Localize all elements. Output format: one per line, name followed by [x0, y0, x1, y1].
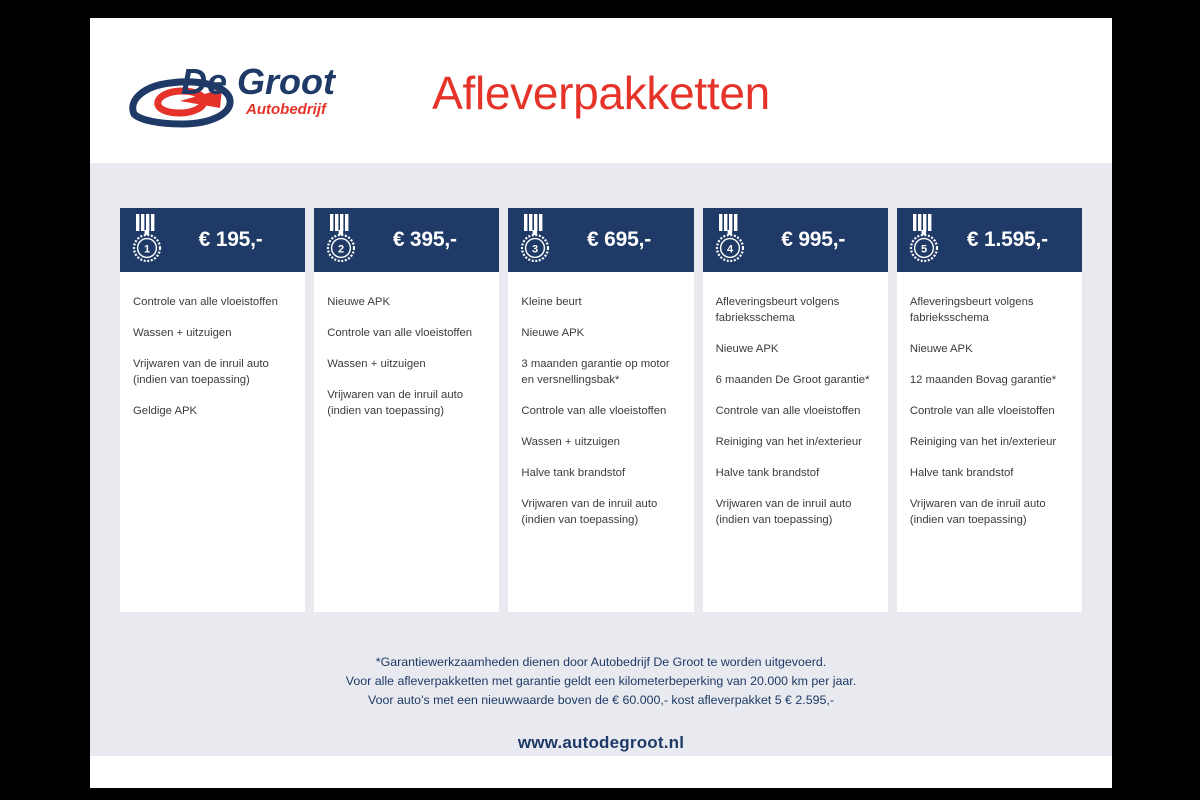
package-feature-item: Vrijwaren van de inruil auto (indien van…	[327, 387, 486, 419]
package-feature-item: Controle van alle vloeistoffen	[910, 403, 1069, 419]
package-feature-item: Controle van alle vloeistoffen	[521, 403, 680, 419]
svg-text:5: 5	[921, 243, 927, 255]
package-feature-item: Afleveringsbeurt volgens fabrieksschema	[910, 294, 1069, 326]
disclaimer-text: *Garantiewerkzaamheden dienen door Autob…	[90, 653, 1112, 711]
package-feature-item: Wassen + uitzuigen	[133, 325, 292, 341]
package-feature-list: Afleveringsbeurt volgens fabrieksschemaN…	[703, 272, 888, 544]
package-feature-item: Kleine beurt	[521, 294, 680, 310]
packages-section: 1 € 195,-Controle van alle vloeistoffenW…	[90, 163, 1112, 756]
package-price: € 1.595,-	[945, 228, 1074, 252]
package-feature-item: Vrijwaren van de inruil auto (indien van…	[716, 496, 875, 528]
medal-icon: 3	[518, 214, 552, 266]
svg-text:1: 1	[144, 243, 150, 255]
package-feature-item: Halve tank brandstof	[716, 465, 875, 481]
package-feature-item: 12 maanden Bovag garantie*	[910, 372, 1069, 388]
package-card[interactable]: 2 € 395,-Nieuwe APKControle van alle vlo…	[314, 208, 499, 612]
package-feature-item: Halve tank brandstof	[910, 465, 1069, 481]
package-feature-item: Nieuwe APK	[327, 294, 486, 310]
package-feature-item: Vrijwaren van de inruil auto (indien van…	[133, 356, 292, 388]
package-feature-item: Vrijwaren van de inruil auto (indien van…	[521, 496, 680, 528]
medal-icon: 5	[907, 214, 941, 266]
package-card-header: 2 € 395,-	[314, 208, 499, 272]
package-feature-item: Geldige APK	[133, 403, 292, 419]
disclaimer-line: Voor auto's met een nieuwwaarde boven de…	[90, 691, 1112, 710]
website-link[interactable]: www.autodegroot.nl	[90, 733, 1112, 753]
package-feature-list: Kleine beurtNieuwe APK3 maanden garantie…	[508, 272, 693, 544]
medal-icon: 2	[324, 214, 358, 266]
package-feature-list: Nieuwe APKControle van alle vloeistoffen…	[314, 272, 499, 435]
package-price: € 195,-	[168, 228, 297, 252]
package-feature-item: Controle van alle vloeistoffen	[716, 403, 875, 419]
svg-text:3: 3	[532, 243, 538, 255]
package-feature-item: Nieuwe APK	[716, 341, 875, 357]
package-feature-item: Nieuwe APK	[910, 341, 1069, 357]
page-title: Afleverpakketten	[90, 66, 1112, 120]
svg-text:4: 4	[727, 243, 734, 255]
package-feature-item: 3 maanden garantie op motor en versnelli…	[521, 356, 680, 388]
package-feature-item: Controle van alle vloeistoffen	[133, 294, 292, 310]
package-card-header: 3 € 695,-	[508, 208, 693, 272]
package-feature-list: Controle van alle vloeistoffenWassen + u…	[120, 272, 305, 435]
disclaimer-line: *Garantiewerkzaamheden dienen door Autob…	[90, 653, 1112, 672]
svg-text:2: 2	[338, 243, 344, 255]
package-feature-item: Nieuwe APK	[521, 325, 680, 341]
package-cards-row: 1 € 195,-Controle van alle vloeistoffenW…	[120, 208, 1082, 612]
package-card[interactable]: 5 € 1.595,-Afleveringsbeurt volgens fabr…	[897, 208, 1082, 612]
package-feature-item: Controle van alle vloeistoffen	[327, 325, 486, 341]
package-feature-item: 6 maanden De Groot garantie*	[716, 372, 875, 388]
disclaimer-line: Voor alle afleverpakketten met garantie …	[90, 672, 1112, 691]
page-header: De Groot Autobedrijf Afleverpakketten	[90, 18, 1112, 163]
package-feature-item: Reiniging van het in/exterieur	[910, 434, 1069, 450]
package-feature-item: Afleveringsbeurt volgens fabrieksschema	[716, 294, 875, 326]
package-feature-item: Wassen + uitzuigen	[521, 434, 680, 450]
package-feature-item: Vrijwaren van de inruil auto (indien van…	[910, 496, 1069, 528]
package-feature-item: Halve tank brandstof	[521, 465, 680, 481]
medal-icon: 1	[130, 214, 164, 266]
package-feature-item: Wassen + uitzuigen	[327, 356, 486, 372]
package-card-header: 1 € 195,-	[120, 208, 305, 272]
package-card[interactable]: 1 € 195,-Controle van alle vloeistoffenW…	[120, 208, 305, 612]
package-card-header: 5 € 1.595,-	[897, 208, 1082, 272]
package-card-header: 4 € 995,-	[703, 208, 888, 272]
package-feature-item: Reiniging van het in/exterieur	[716, 434, 875, 450]
package-card[interactable]: 4 € 995,-Afleveringsbeurt volgens fabrie…	[703, 208, 888, 612]
flyer-page: De Groot Autobedrijf Afleverpakketten 1 …	[90, 18, 1112, 788]
package-card[interactable]: 3 € 695,-Kleine beurtNieuwe APK3 maanden…	[508, 208, 693, 612]
bottom-white-strip	[90, 756, 1112, 788]
letterbox-frame: De Groot Autobedrijf Afleverpakketten 1 …	[0, 0, 1200, 800]
package-feature-list: Afleveringsbeurt volgens fabrieksschemaN…	[897, 272, 1082, 544]
package-price: € 395,-	[362, 228, 491, 252]
package-price: € 995,-	[751, 228, 880, 252]
medal-icon: 4	[713, 214, 747, 266]
footer-block: *Garantiewerkzaamheden dienen door Autob…	[90, 653, 1112, 753]
package-price: € 695,-	[556, 228, 685, 252]
